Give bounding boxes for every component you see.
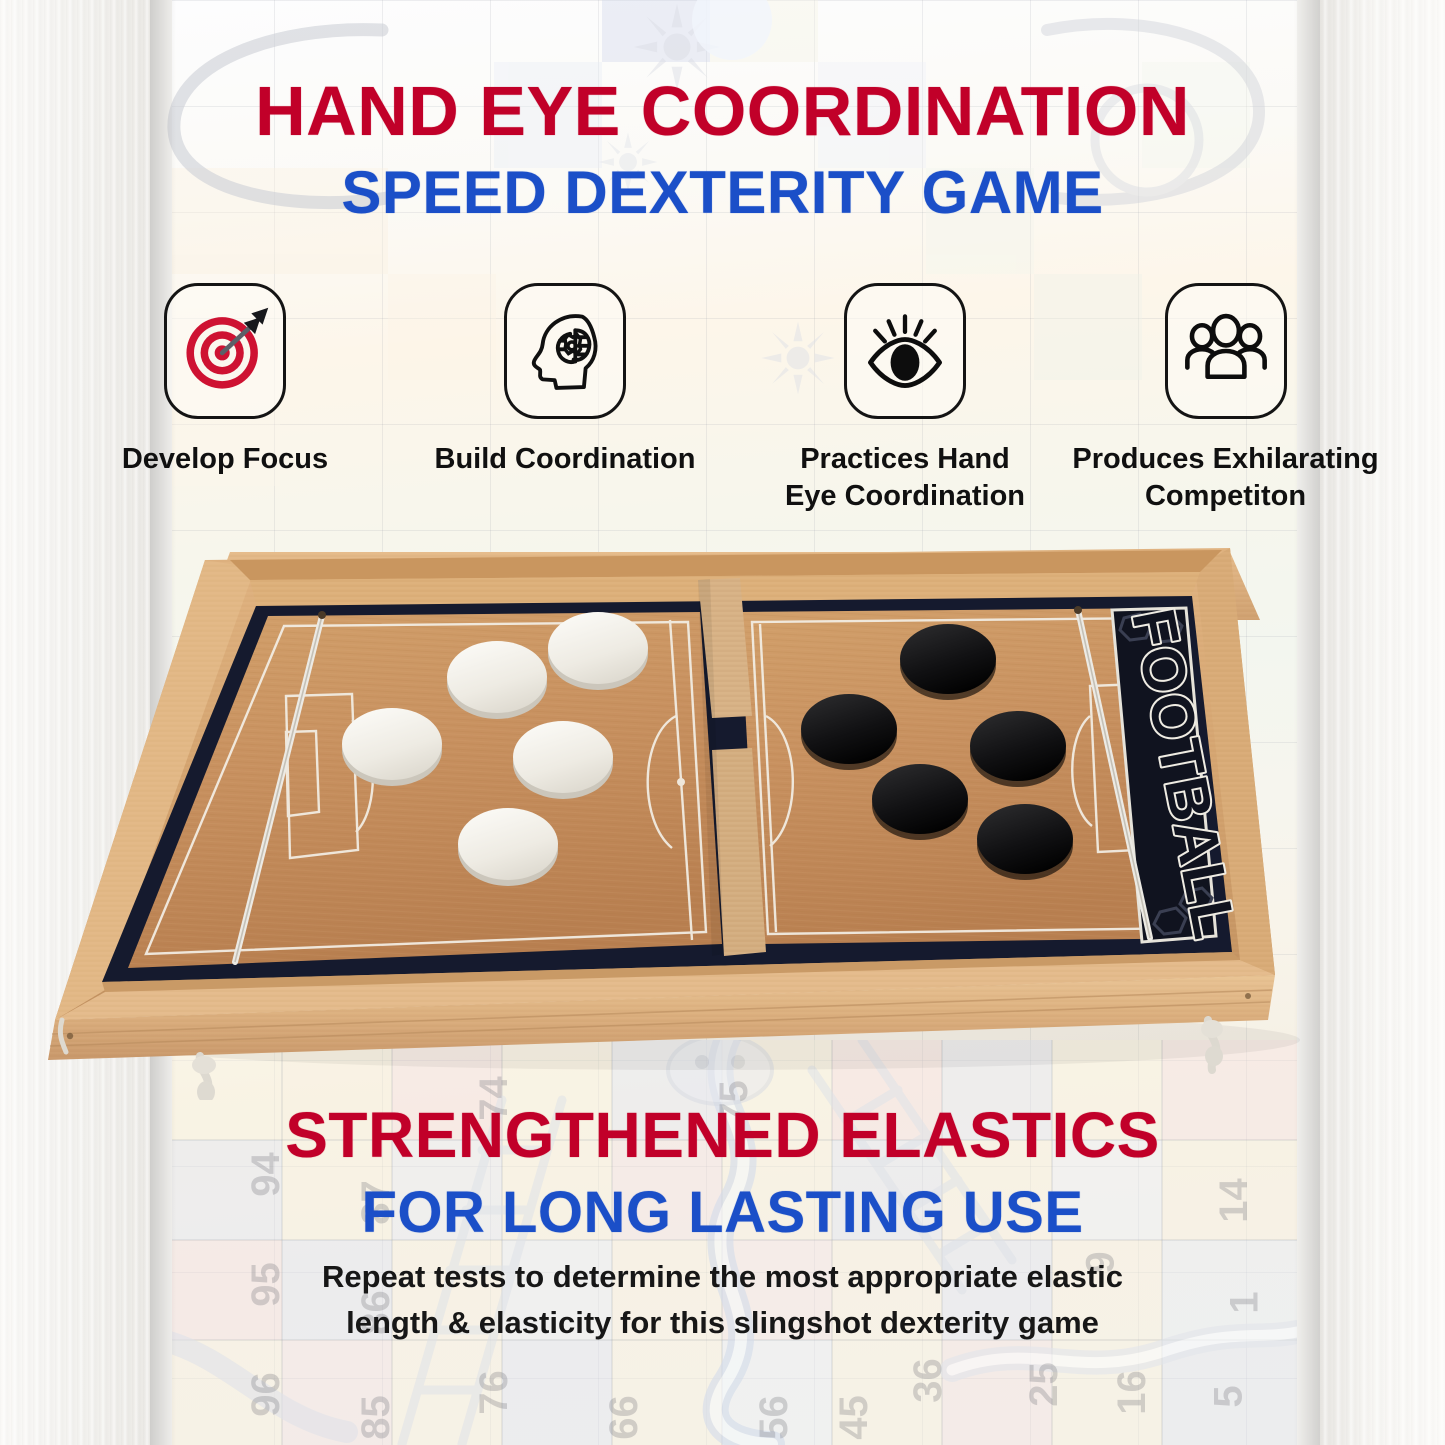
white-puck xyxy=(342,708,442,786)
eye-icon xyxy=(857,303,953,399)
product-image-sling-puck-board: FOOTBALL xyxy=(0,520,1445,1100)
white-puck xyxy=(447,641,547,719)
feature-item-develop-focus[interactable]: Develop Focus xyxy=(105,283,345,478)
sling-puck-board-illustration: FOOTBALL xyxy=(0,520,1445,1100)
feature-item-hand-eye-coordination[interactable]: Practices Hand Eye Coordination xyxy=(765,283,1045,515)
feature-row: Develop Focus Build Coordination xyxy=(0,283,1445,543)
bottom-heading: STRENGTHENED ELASTICS FOR LONG LASTING U… xyxy=(0,1098,1445,1248)
bottom-heading-line1: STRENGTHENED ELASTICS xyxy=(0,1098,1445,1172)
feature-label: Develop Focus xyxy=(105,441,345,478)
feature-label: Produces Exhilarating Competiton xyxy=(1058,441,1393,515)
feature-item-competition[interactable]: Produces Exhilarating Competiton xyxy=(1058,283,1393,515)
feature-tile xyxy=(504,283,626,419)
bottom-subtext: Repeat tests to determine the most appro… xyxy=(283,1254,1163,1346)
white-puck xyxy=(458,808,558,886)
board-number: 56 xyxy=(752,1395,797,1440)
feature-tile xyxy=(1165,283,1287,419)
board-number: 5 xyxy=(1207,1385,1252,1407)
background-token xyxy=(672,0,792,80)
board-number: 25 xyxy=(1022,1362,1067,1407)
black-puck xyxy=(977,804,1073,880)
board-number: 1 xyxy=(1223,1291,1268,1313)
black-puck xyxy=(872,764,968,840)
head-brain-gear-icon xyxy=(522,308,608,394)
target-dartboard-icon xyxy=(178,304,272,398)
top-heading-line1: HAND EYE COORDINATION xyxy=(0,72,1445,150)
feature-item-build-coordination[interactable]: Build Coordination xyxy=(425,283,705,478)
board-number: 66 xyxy=(602,1395,647,1440)
top-heading-line2: SPEED DEXTERITY GAME xyxy=(0,158,1445,228)
black-puck xyxy=(900,624,996,700)
black-puck xyxy=(801,694,897,770)
white-puck xyxy=(548,612,648,690)
elastic-knot xyxy=(192,1056,216,1100)
board-number: 36 xyxy=(906,1358,951,1403)
feature-label: Build Coordination xyxy=(425,441,705,478)
bottom-heading-line2: FOR LONG LASTING USE xyxy=(0,1178,1445,1248)
board-number: 16 xyxy=(1110,1370,1155,1415)
feature-tile xyxy=(164,283,286,419)
people-group-icon xyxy=(1180,305,1272,397)
board-number: 85 xyxy=(354,1395,399,1440)
board-number: 76 xyxy=(472,1370,517,1415)
black-puck xyxy=(970,711,1066,787)
board-number: 96 xyxy=(244,1372,289,1417)
top-heading: HAND EYE COORDINATION SPEED DEXTERITY GA… xyxy=(0,72,1445,228)
white-puck xyxy=(513,721,613,799)
feature-label: Practices Hand Eye Coordination xyxy=(765,441,1045,515)
feature-tile xyxy=(844,283,966,419)
board-number: 45 xyxy=(832,1395,877,1440)
